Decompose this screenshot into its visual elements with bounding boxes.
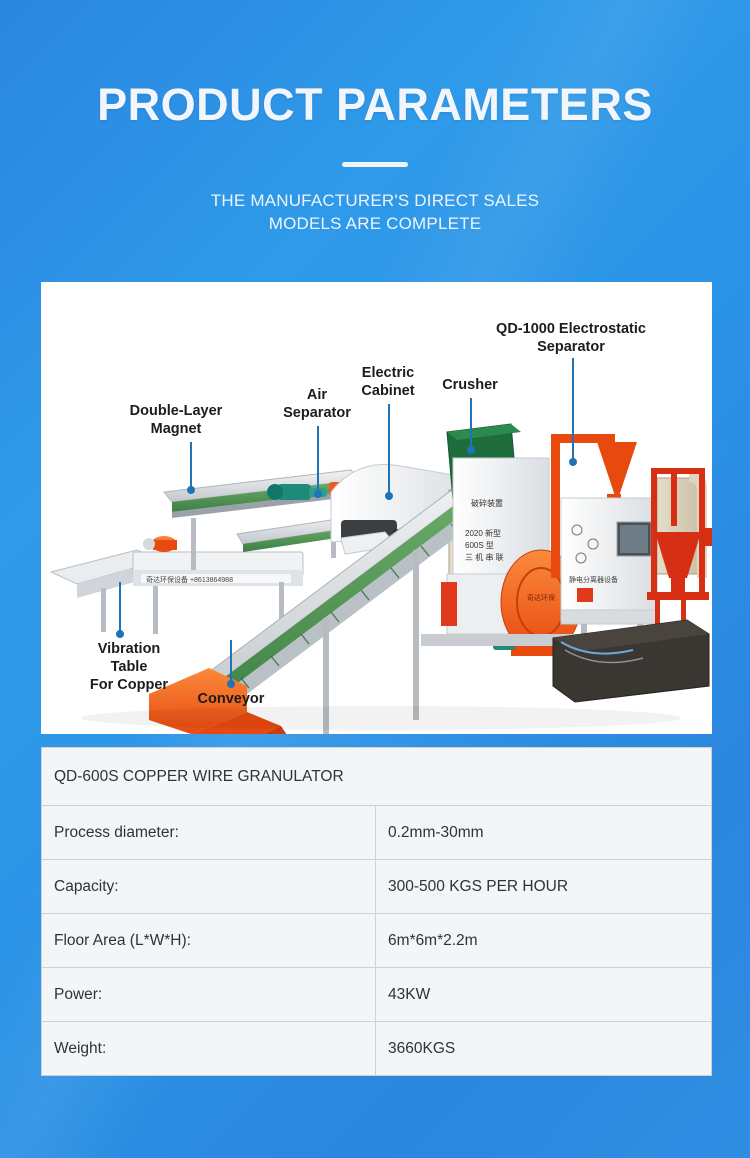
spec-value: 43KW bbox=[376, 968, 711, 1021]
callout-vibration-table: Vibration Table For Copper bbox=[63, 640, 195, 694]
spec-value: 6m*6m*2.2m bbox=[376, 914, 711, 967]
title-divider bbox=[342, 162, 408, 167]
callout-label-line-2: Table bbox=[111, 659, 148, 675]
svg-text:2020 新型: 2020 新型 bbox=[465, 528, 501, 538]
spec-value: 0.2mm-30mm bbox=[376, 806, 711, 859]
spec-value: 300-500 KGS PER HOUR bbox=[376, 860, 711, 913]
page-title: PRODUCT PARAMETERS bbox=[0, 0, 750, 134]
spec-value: 3660KGS bbox=[376, 1022, 711, 1075]
callout-conveyor: Conveyor bbox=[171, 690, 291, 708]
page-subtitle: THE MANUFACTURER'S DIRECT SALES MODELS A… bbox=[0, 189, 750, 235]
spec-table: QD-600S COPPER WIRE GRANULATOR Process d… bbox=[41, 747, 712, 1076]
page-header: PRODUCT PARAMETERS THE MANUFACTURER'S DI… bbox=[0, 0, 750, 235]
callout-double-layer-magnet: Double-Layer Magnet bbox=[111, 402, 241, 438]
leader-line-crusher bbox=[470, 398, 472, 450]
spec-key: Weight: bbox=[42, 1022, 376, 1075]
subtitle-line-2: MODELS ARE COMPLETE bbox=[269, 214, 482, 233]
table-row: Weight: 3660KGS bbox=[42, 1022, 711, 1075]
callout-label-line-1: Vibration bbox=[98, 641, 161, 657]
table-row: Process diameter: 0.2mm-30mm bbox=[42, 806, 711, 860]
spec-key: Power: bbox=[42, 968, 376, 1021]
leader-line-conveyor bbox=[230, 640, 232, 684]
leader-line-air-separator bbox=[317, 426, 319, 494]
spec-key: Floor Area (L*W*H): bbox=[42, 914, 376, 967]
svg-text:破碎装置: 破碎装置 bbox=[471, 498, 503, 508]
leader-line-vibration-table bbox=[119, 582, 121, 634]
leader-line-double-layer-magnet bbox=[190, 442, 192, 490]
svg-text:三 机 串 联: 三 机 串 联 bbox=[465, 552, 504, 562]
leader-line-electrostatic-separator bbox=[572, 358, 574, 462]
spec-table-title: QD-600S COPPER WIRE GRANULATOR bbox=[42, 748, 711, 806]
product-photo: 奇达环保设备 +8613864988 bbox=[41, 282, 712, 734]
callout-label-line-1: Crusher bbox=[442, 377, 498, 393]
svg-text:静电分离器设备: 静电分离器设备 bbox=[569, 575, 618, 584]
product-image-card: 奇达环保设备 +8613864988 bbox=[41, 282, 712, 734]
table-row: Capacity: 300-500 KGS PER HOUR bbox=[42, 860, 711, 914]
callout-label-line-2: Separator bbox=[537, 339, 605, 355]
callout-label-line-2: Magnet bbox=[151, 421, 202, 437]
spec-key: Capacity: bbox=[42, 860, 376, 913]
callout-label-line-1: QD-1000 Electrostatic bbox=[496, 321, 646, 337]
callout-label-line-2: Cabinet bbox=[361, 383, 414, 399]
table-row: Floor Area (L*W*H): 6m*6m*2.2m bbox=[42, 914, 711, 968]
subtitle-line-1: THE MANUFACTURER'S DIRECT SALES bbox=[211, 191, 539, 210]
callout-label-line-1: Air bbox=[307, 387, 327, 403]
callout-label-line-1: Electric bbox=[362, 365, 414, 381]
svg-text:600S 型: 600S 型 bbox=[465, 541, 494, 550]
leader-line-electric-cabinet bbox=[388, 404, 390, 496]
callout-label-line-1: Conveyor bbox=[198, 691, 265, 707]
callout-label-line-3: For Copper bbox=[90, 677, 168, 693]
callout-electrostatic-separator: QD-1000 Electrostatic Separator bbox=[446, 320, 696, 356]
callout-label-line-1: Double-Layer bbox=[130, 403, 223, 419]
table-row: Power: 43KW bbox=[42, 968, 711, 1022]
callout-label-line-2: Separator bbox=[283, 405, 351, 421]
svg-text:奇达环保: 奇达环保 bbox=[527, 593, 555, 602]
callout-crusher: Crusher bbox=[415, 376, 525, 394]
svg-text:奇达环保设备 +8613864988: 奇达环保设备 +8613864988 bbox=[146, 575, 233, 584]
spec-key: Process diameter: bbox=[42, 806, 376, 859]
